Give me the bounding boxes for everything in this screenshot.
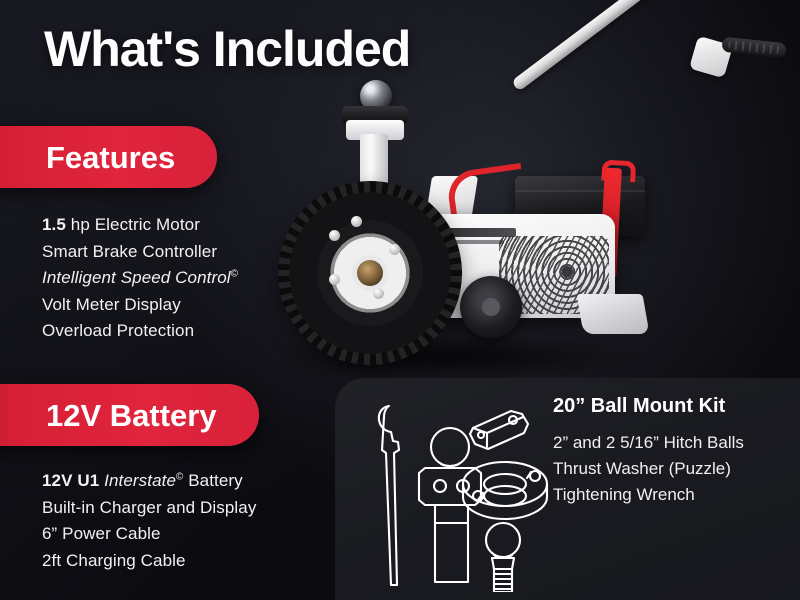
- thrust-washer-icon: [463, 462, 547, 519]
- list-item: 6” Power Cable: [42, 521, 256, 548]
- list-item: Overload Protection: [42, 318, 238, 345]
- wheel-lug: [329, 274, 340, 285]
- list-item: 12V U1 Interstate© Battery: [42, 468, 256, 495]
- copyright-mark: ©: [231, 268, 238, 279]
- features-list: 1.5 hp Electric Motor Smart Brake Contro…: [42, 212, 238, 345]
- battery-list: 12V U1 Interstate© Battery Built-in Char…: [42, 468, 256, 574]
- list-item: Smart Brake Controller: [42, 239, 238, 266]
- list-item: 1.5 hp Electric Motor: [42, 212, 238, 239]
- ball-mount-kit-text: 20” Ball Mount Kit 2” and 2 5/16” Hitch …: [553, 396, 744, 508]
- list-item-text: hp Electric Motor: [66, 215, 200, 234]
- list-item-lead: 12V U1: [42, 471, 104, 490]
- list-item: Tightening Wrench: [553, 482, 744, 508]
- list-item-text: Built-in Charger and Display: [42, 498, 256, 517]
- battery-pill-label: 12V Battery: [0, 400, 259, 431]
- ball-mount-kit-icons: [355, 392, 550, 592]
- list-item-lead: 1.5: [42, 215, 66, 234]
- ball-mount-kit-heading: 20” Ball Mount Kit: [553, 396, 744, 416]
- wheel-lug: [329, 230, 340, 241]
- list-item: Built-in Charger and Display: [42, 495, 256, 522]
- list-item: Intelligent Speed Control©: [42, 265, 238, 292]
- wheel-lug: [351, 216, 362, 227]
- list-item-italic: Intelligent Speed Control: [42, 268, 231, 287]
- list-item-tail: Battery: [183, 471, 242, 490]
- ball-mount-kit-list: 2” and 2 5/16” Hitch Balls Thrust Washer…: [553, 430, 744, 508]
- drive-motor: [460, 276, 522, 338]
- list-item: Thrust Washer (Puzzle): [553, 456, 744, 482]
- wheel-lug: [373, 288, 384, 299]
- list-item: 2ft Charging Cable: [42, 548, 256, 575]
- list-item-text: Overload Protection: [42, 321, 194, 340]
- wheel-tire: [285, 188, 455, 358]
- list-item-text: Smart Brake Controller: [42, 242, 217, 261]
- battery-pill: 12V Battery: [0, 384, 259, 446]
- hitch-wrench-icon: [470, 411, 528, 449]
- list-item-text: Volt Meter Display: [42, 295, 181, 314]
- ball-mount-post-icon: [419, 428, 481, 582]
- tightening-wrench-icon: [379, 406, 399, 585]
- rear-foot: [576, 294, 649, 334]
- list-item: Volt Meter Display: [42, 292, 238, 319]
- list-item-italic: Interstate: [104, 471, 176, 490]
- features-pill-label: Features: [0, 142, 217, 173]
- wheel-lug: [389, 244, 400, 255]
- hitch-ball-icon: [486, 523, 520, 592]
- list-item-text: 6” Power Cable: [42, 524, 161, 543]
- list-item-text: 2ft Charging Cable: [42, 551, 186, 570]
- features-pill: Features: [0, 126, 217, 188]
- handle-grip: [721, 37, 786, 59]
- page-title: What's Included: [44, 24, 410, 74]
- list-item: 2” and 2 5/16” Hitch Balls: [553, 430, 744, 456]
- poster-canvas: What's Included Features 1.5 hp Electric…: [0, 0, 800, 600]
